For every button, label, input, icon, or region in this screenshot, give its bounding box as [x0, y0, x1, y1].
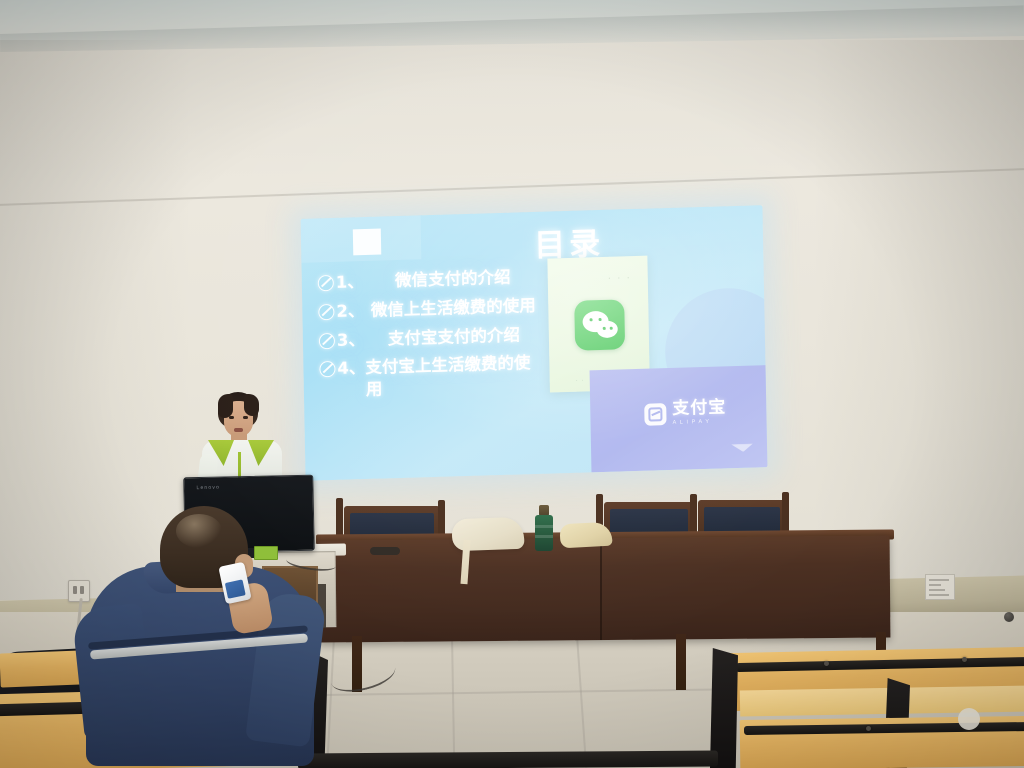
presenter-hair-right	[244, 394, 259, 416]
alipay-label-cn: 支付宝	[672, 399, 726, 418]
list-item-label: 支付宝上生活缴费的使用	[365, 352, 544, 401]
list-item: 1、 微信支付的介绍	[318, 266, 542, 294]
slide-agenda-list: 1、 微信支付的介绍 2、 微信上生活缴费的使用 3、 支付宝支付的介绍 4、 …	[318, 266, 545, 409]
list-item-label: 支付宝支付的介绍	[388, 323, 543, 349]
list-item-number: 3、	[337, 328, 388, 351]
wechat-logo-icon	[574, 299, 625, 350]
bench-leg	[676, 634, 686, 690]
wechat-card-caption: . .	[576, 376, 585, 383]
alipay-label-en: ALIPAY	[673, 418, 727, 426]
tan-bag	[559, 522, 612, 549]
desk-rivet	[962, 657, 967, 662]
alipay-swoosh-decor	[731, 444, 753, 453]
seated-attendee	[72, 498, 322, 768]
list-item-number: 4、	[337, 357, 365, 380]
classroom-scene: 目录 1、 微信支付的介绍 2、 微信上生活缴费的使用 3、 支付宝支付的介绍	[0, 0, 1024, 768]
circle-slash-icon	[319, 361, 335, 377]
phone-screen[interactable]	[225, 579, 246, 598]
wall-knob	[1004, 612, 1014, 622]
desk-rivet	[824, 661, 829, 666]
list-item: 4、 支付宝上生活缴费的使用	[319, 352, 544, 402]
list-item-number: 1、	[336, 270, 396, 294]
green-water-bottle	[535, 505, 553, 551]
bench-table-seam	[600, 540, 602, 640]
presenter-hair-left	[218, 394, 233, 418]
desk-rivet	[866, 726, 871, 731]
list-item-label: 微信支付的介绍	[395, 266, 542, 292]
slide-decor-square	[353, 229, 381, 256]
list-item: 3、 支付宝支付的介绍	[319, 323, 543, 351]
wall-notice-sign	[925, 574, 955, 600]
presentation-slide: 目录 1、 微信支付的介绍 2、 微信上生活缴费的使用 3、 支付宝支付的介绍	[301, 205, 768, 481]
list-item-label: 微信上生活缴费的使用	[371, 295, 543, 322]
circle-slash-icon	[318, 304, 334, 320]
dark-small-object	[370, 547, 400, 555]
projection-screen: 目录 1、 微信支付的介绍 2、 微信上生活缴费的使用 3、 支付宝支付的介绍	[301, 205, 768, 481]
front-rail-center	[298, 751, 718, 768]
bench-table	[318, 536, 891, 643]
attendee-hair-highlight	[176, 514, 222, 548]
wall-shadow-right	[814, 40, 1024, 610]
front-desk-right-shelf	[740, 685, 1024, 716]
circle-slash-icon	[318, 275, 334, 291]
paper-circle	[958, 708, 980, 730]
list-item-number: 2、	[336, 300, 371, 323]
circle-slash-icon	[319, 332, 335, 348]
alipay-mark-icon	[644, 403, 666, 426]
alipay-logo-icon: 支付宝 ALIPAY	[644, 399, 726, 426]
alipay-card: 支付宝 ALIPAY	[590, 365, 768, 472]
attendee-shoulder-left	[71, 603, 154, 740]
monitor-brand-label: Lenovo	[196, 485, 220, 491]
wechat-card-dots: · · ·	[608, 272, 632, 283]
list-item: 2、 微信上生活缴费的使用	[318, 295, 542, 323]
